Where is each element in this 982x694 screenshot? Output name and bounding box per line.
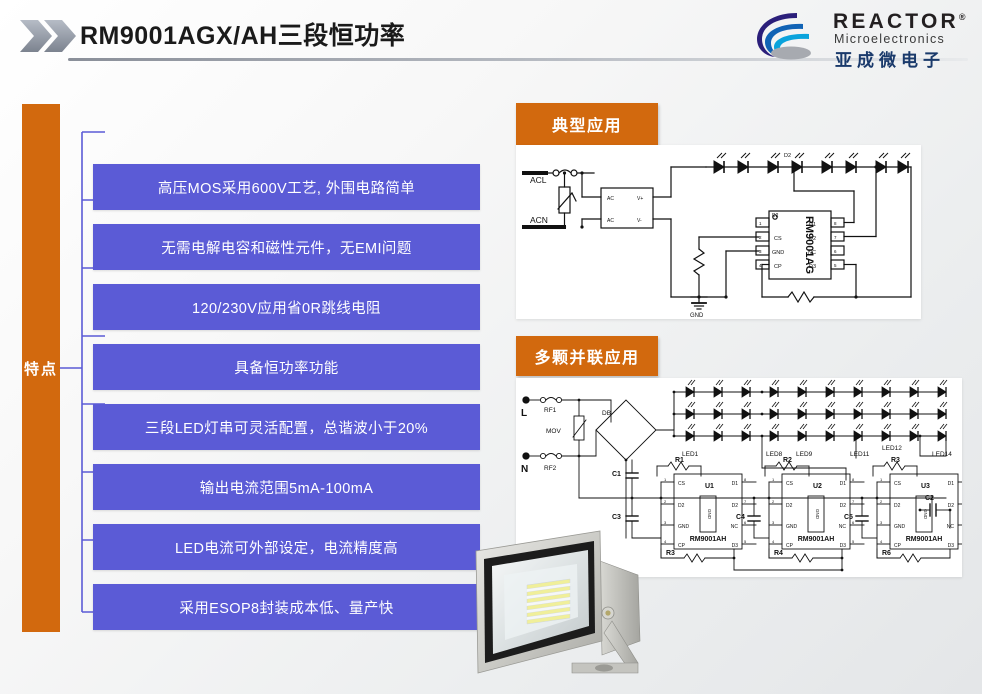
typical-application-diagram: ACL ACN AC AC V+ V- D2 CS GND CP D1 D2 N… bbox=[516, 145, 921, 319]
label-rf2: RF2 bbox=[544, 465, 557, 472]
u1-pin-d2r: D2 bbox=[732, 503, 739, 509]
floodlight-base-hole bbox=[595, 664, 613, 671]
logo-chinese-name: 亚成微电子 bbox=[835, 46, 945, 71]
u2-pinnum-8: 8 bbox=[852, 477, 855, 482]
u3-body-gnd: GND bbox=[923, 509, 928, 520]
u2-pin-d2: D2 bbox=[786, 503, 793, 509]
u3-pin-nc: NC bbox=[947, 524, 955, 530]
label-r2: R2 bbox=[783, 457, 792, 464]
u3-pin-cp: CP bbox=[894, 543, 902, 549]
label-bridge-vplus: V+ bbox=[637, 196, 643, 202]
features-panel: 特点 高压MOS采用600V工艺, 外围电路简单 无需电解电容和磁性元件，无EM… bbox=[0, 96, 500, 656]
ic1-pin-gnd: GND bbox=[772, 250, 784, 256]
floodlight-led-array bbox=[527, 579, 570, 624]
label-rf1: RF1 bbox=[544, 407, 557, 414]
ic1-pinnum-5: 5 bbox=[834, 263, 837, 268]
u3-pin-d2: D2 bbox=[894, 503, 901, 509]
u2-part-number: RM9001AH bbox=[798, 536, 835, 543]
registered-mark-icon: ® bbox=[959, 12, 966, 22]
ic1-pinnum-8: 8 bbox=[834, 221, 837, 226]
u1-pin-cs: CS bbox=[678, 481, 686, 487]
ic1-pinnum-1: 1 bbox=[759, 221, 762, 226]
features-spine-label: 特点 bbox=[22, 362, 60, 379]
u2-body-gnd: GND bbox=[815, 509, 820, 520]
u2-pin-cp: CP bbox=[786, 543, 794, 549]
u3-pin-d2r: D2 bbox=[948, 503, 955, 509]
ic1-pinnum-7: 7 bbox=[834, 235, 837, 240]
u1-pinnum-1: 1 bbox=[664, 477, 667, 482]
logo-brand-text: REACTOR® bbox=[833, 10, 966, 34]
section-label-parallel-application: 多颗并联应用 bbox=[516, 336, 658, 376]
u2-pinnum-6: 6 bbox=[852, 520, 855, 525]
u3-pinnum-3: 3 bbox=[880, 520, 883, 525]
u1-pinnum-6: 6 bbox=[744, 520, 747, 525]
u3-pin-d1: D1 bbox=[948, 481, 955, 487]
ic1-part-number: RM9001AG bbox=[803, 216, 815, 274]
label-acl: ACL bbox=[530, 175, 547, 185]
u2-pin-d2r: D2 bbox=[840, 503, 847, 509]
company-logo: REACTOR® Microelectronics 亚成微电子 bbox=[753, 4, 968, 66]
ic1-pinnum-2: 2 bbox=[759, 235, 762, 240]
label-led12: LED12 bbox=[882, 445, 902, 452]
feature-item-2[interactable]: 无需电解电容和磁性元件，无EMI问题 bbox=[93, 224, 480, 270]
page-header: RM9001AGX/AH三段恒功率 REACTOR® Microelectron… bbox=[0, 0, 982, 72]
u2-pinnum-4: 4 bbox=[772, 539, 775, 544]
u2-pin-d1: D1 bbox=[840, 481, 847, 487]
feature-item-6[interactable]: 输出电流范围5mA-100mA bbox=[93, 464, 480, 510]
label-r1: R1 bbox=[675, 457, 684, 464]
double-chevron-right-icon bbox=[18, 16, 80, 56]
label-line-L: L bbox=[521, 408, 527, 419]
ic1-pin-cs: CS bbox=[774, 236, 782, 242]
u1-part-number: RM9001AH bbox=[690, 536, 727, 543]
u3-pinnum-2: 2 bbox=[880, 499, 883, 504]
u2-pinnum-3: 3 bbox=[772, 520, 775, 525]
logo-subtitle: Microelectronics bbox=[834, 32, 945, 46]
label-line-N: N bbox=[521, 464, 528, 475]
label-c2: C2 bbox=[925, 495, 934, 502]
feature-item-1[interactable]: 高压MOS采用600V工艺, 外围电路简单 bbox=[93, 164, 480, 210]
label-gnd: GND bbox=[690, 313, 704, 319]
led-floodlight-photo bbox=[452, 523, 682, 688]
u1-pinnum-5: 5 bbox=[744, 539, 747, 544]
label-d2-node: D2 bbox=[784, 153, 791, 159]
u3-pin-gnd: GND bbox=[894, 524, 906, 530]
label-bridge-ac1: AC bbox=[607, 196, 614, 202]
u3-pinnum-1: 1 bbox=[880, 477, 883, 482]
u3-part-number: RM9001AH bbox=[906, 536, 943, 543]
u2-pin-nc: NC bbox=[839, 524, 847, 530]
label-led8: LED8 bbox=[766, 451, 783, 458]
label-r6: R6 bbox=[882, 550, 891, 557]
label-db: DB bbox=[602, 410, 611, 417]
u2-pin-d3: D3 bbox=[840, 543, 847, 549]
u1-pin-d2: D2 bbox=[678, 503, 685, 509]
feature-item-8[interactable]: 采用ESOP8封装成本低、量产快 bbox=[93, 584, 480, 630]
label-led9: LED9 bbox=[796, 451, 813, 458]
typical-application-schematic: ACL ACN AC AC V+ V- D2 CS GND CP D1 D2 N… bbox=[516, 145, 921, 319]
u2-pin-gnd: GND bbox=[786, 524, 798, 530]
feature-item-5[interactable]: 三段LED灯串可灵活配置，总谐波小于20% bbox=[93, 404, 480, 450]
label-mov: MOV bbox=[546, 428, 561, 435]
label-c1: C1 bbox=[612, 471, 621, 478]
u2-pinnum-2: 2 bbox=[772, 499, 775, 504]
features-spine-bar: 特点 bbox=[22, 104, 60, 632]
label-led14: LED14 bbox=[932, 451, 952, 458]
label-bridge-vminus: V- bbox=[637, 218, 642, 224]
ic1-pin-cp: CP bbox=[774, 264, 782, 270]
u1-pinnum-8: 8 bbox=[744, 477, 747, 482]
page-title: RM9001AGX/AH三段恒功率 bbox=[80, 16, 405, 52]
floodlight-hinge-bolt bbox=[605, 610, 610, 615]
u3-ref: U3 bbox=[921, 483, 930, 490]
label-r4: R4 bbox=[774, 550, 783, 557]
label-acn: ACN bbox=[530, 215, 548, 225]
u3-pin-cs: CS bbox=[894, 481, 902, 487]
ic1-pin-d2-top: D2 bbox=[772, 213, 779, 219]
reactor-swirl-icon bbox=[753, 9, 831, 61]
label-led11: LED11 bbox=[850, 451, 870, 458]
u2-pinnum-5: 5 bbox=[852, 539, 855, 544]
label-c3: C3 bbox=[612, 514, 621, 521]
ic1-pinnum-3: 3 bbox=[759, 249, 762, 254]
u1-body-gnd: GND bbox=[707, 509, 712, 520]
u2-ref: U2 bbox=[813, 483, 822, 490]
label-bridge-ac2: AC bbox=[607, 218, 614, 224]
u1-pin-d1: D1 bbox=[732, 481, 739, 487]
u2-pinnum-7: 7 bbox=[852, 499, 855, 504]
label-r3-top: R3 bbox=[891, 457, 900, 464]
u1-pinnum-2: 2 bbox=[664, 499, 667, 504]
label-led1: LED1 bbox=[682, 451, 699, 458]
feature-item-7[interactable]: LED电流可外部设定，电流精度高 bbox=[93, 524, 480, 570]
feature-item-3[interactable]: 120/230V应用省0R跳线电阻 bbox=[93, 284, 480, 330]
u3-pinnum-4: 4 bbox=[880, 539, 883, 544]
u2-pinnum-1: 1 bbox=[772, 477, 775, 482]
ic1-pinnum-6: 6 bbox=[834, 249, 837, 254]
u1-pin-nc: NC bbox=[731, 524, 739, 530]
section-label-typical-application: 典型应用 bbox=[516, 103, 658, 145]
u1-ref: U1 bbox=[705, 483, 714, 490]
u1-pin-d3: D3 bbox=[732, 543, 739, 549]
u2-pin-cs: CS bbox=[786, 481, 794, 487]
u1-pinnum-7: 7 bbox=[744, 499, 747, 504]
u3-pin-d3: D3 bbox=[948, 543, 955, 549]
feature-item-4[interactable]: 具备恒功率功能 bbox=[93, 344, 480, 390]
